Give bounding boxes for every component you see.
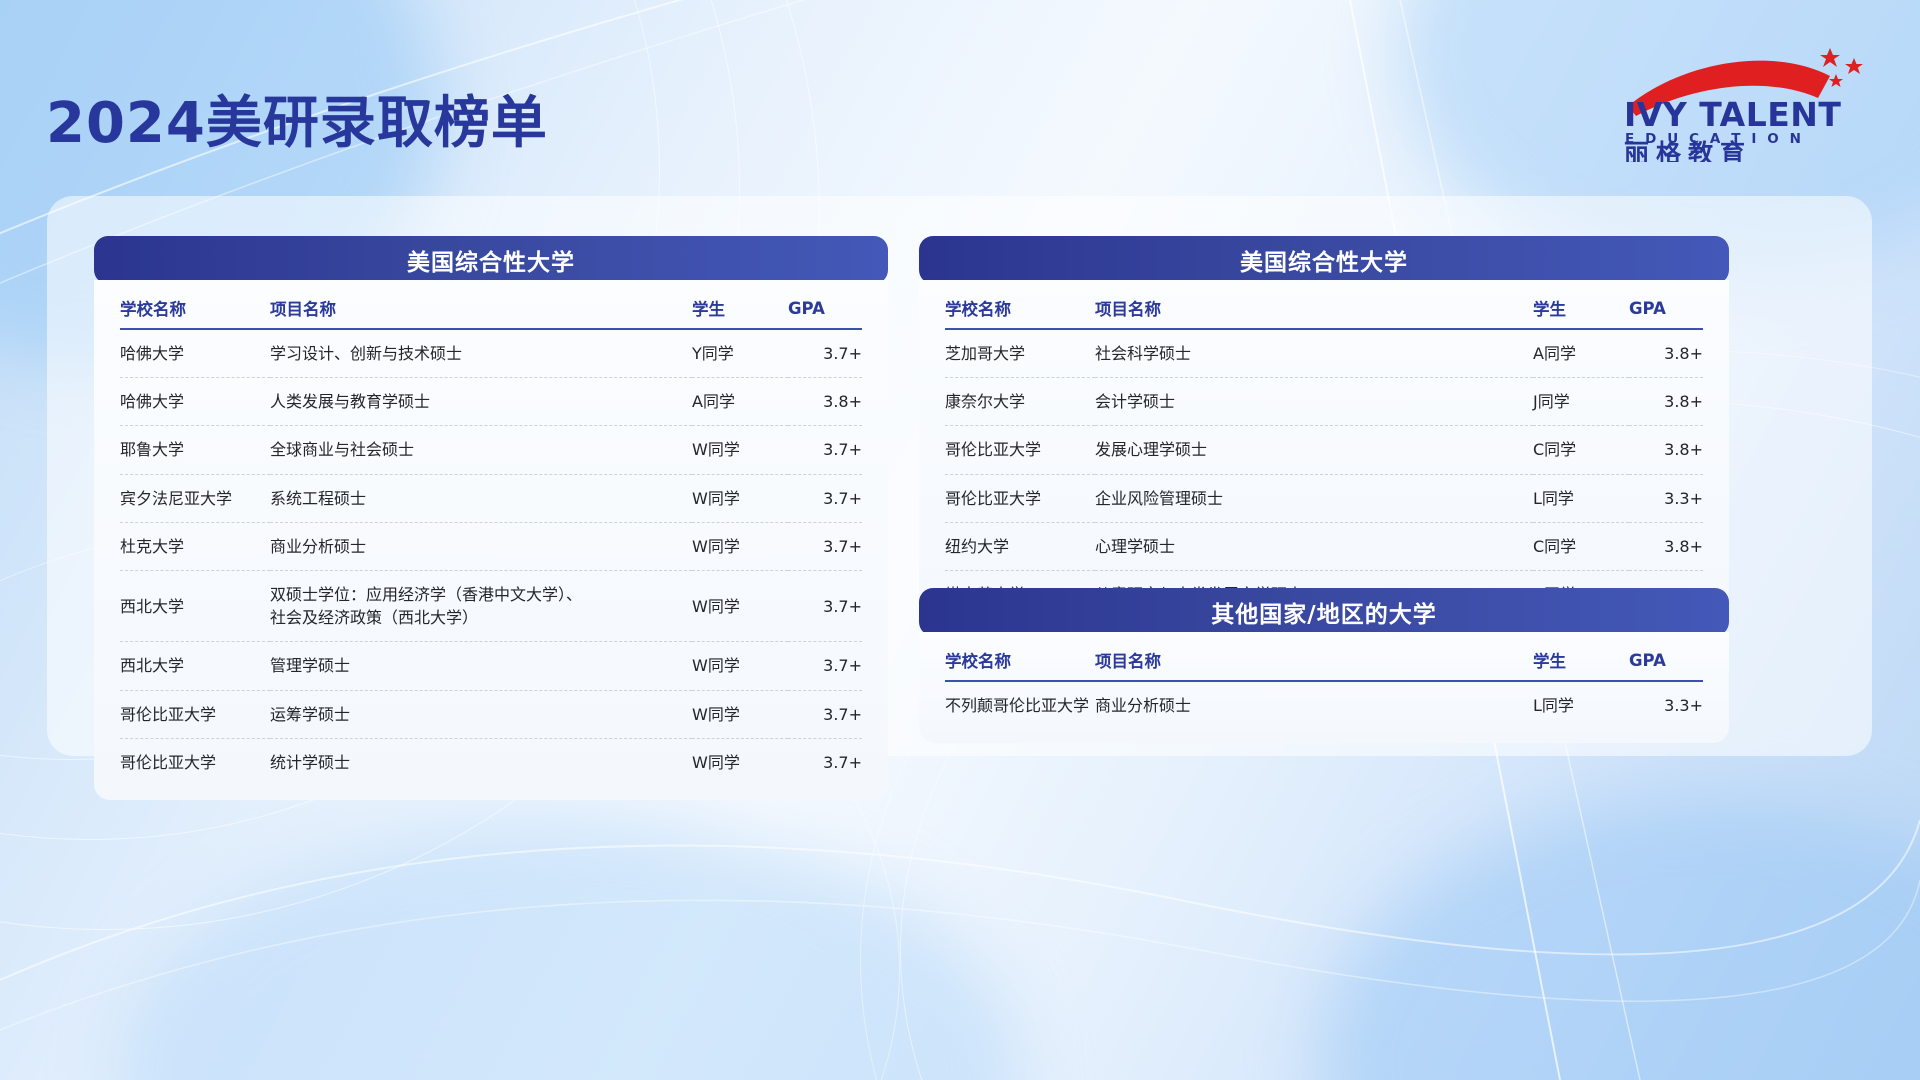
cell-program: 统计学硕士 — [270, 738, 692, 786]
cell-school: 哥伦比亚大学 — [945, 426, 1095, 474]
cell-school: 哥伦比亚大学 — [120, 690, 270, 738]
col-header-school: 学校名称 — [945, 632, 1095, 681]
col-header-gpa: GPA — [1629, 280, 1703, 329]
cell-program: 会计学硕士 — [1095, 378, 1533, 426]
section-card-us-comprehensive-left: 美国综合性大学 学校名称 项目名称 学生 GPA 哈佛大学学习设计、创新与技术硕… — [94, 236, 888, 800]
cell-gpa: 3.7+ — [788, 329, 862, 378]
cell-program: 运筹学硕士 — [270, 690, 692, 738]
section-heading-us-left: 美国综合性大学 — [94, 236, 888, 284]
table-body-other: 不列颠哥伦比亚大学商业分析硕士L同学3.3+ — [945, 681, 1703, 729]
cell-gpa: 3.7+ — [788, 522, 862, 570]
table-row: 纽约大学心理学硕士C同学3.8+ — [945, 522, 1703, 570]
table-row: 哥伦比亚大学发展心理学硕士C同学3.8+ — [945, 426, 1703, 474]
content-panel: 美国综合性大学 学校名称 项目名称 学生 GPA 哈佛大学学习设计、创新与技术硕… — [47, 196, 1872, 756]
cell-school: 西北大学 — [120, 570, 270, 641]
table-us-right: 学校名称 项目名称 学生 GPA 芝加哥大学社会科学硕士A同学3.8+康奈尔大学… — [945, 280, 1703, 618]
table-header-row: 学校名称 项目名称 学生 GPA — [120, 280, 862, 329]
cell-school: 不列颠哥伦比亚大学 — [945, 681, 1095, 729]
table-row: 哥伦比亚大学运筹学硕士W同学3.7+ — [120, 690, 862, 738]
cell-school: 康奈尔大学 — [945, 378, 1095, 426]
cell-school: 哈佛大学 — [120, 378, 270, 426]
cell-gpa: 3.3+ — [1629, 474, 1703, 522]
section-heading-us-right: 美国综合性大学 — [919, 236, 1729, 284]
cell-student: L同学 — [1533, 474, 1629, 522]
cell-school: 哥伦比亚大学 — [120, 738, 270, 786]
col-header-school: 学校名称 — [120, 280, 270, 329]
cell-gpa: 3.7+ — [788, 426, 862, 474]
logo-wordmark-chinese: 丽格教育 — [1624, 139, 1752, 162]
cell-student: C同学 — [1533, 426, 1629, 474]
cell-program: 学习设计、创新与技术硕士 — [270, 329, 692, 378]
cell-school: 芝加哥大学 — [945, 329, 1095, 378]
cell-program: 系统工程硕士 — [270, 474, 692, 522]
col-header-program: 项目名称 — [1095, 280, 1533, 329]
section-body-other: 学校名称 项目名称 学生 GPA 不列颠哥伦比亚大学商业分析硕士L同学3.3+ — [919, 632, 1729, 743]
table-row: 耶鲁大学全球商业与社会硕士W同学3.7+ — [120, 426, 862, 474]
table-row: 西北大学双硕士学位：应用经济学（香港中文大学）、 社会及经济政策（西北大学）W同… — [120, 570, 862, 641]
col-header-student: 学生 — [692, 280, 788, 329]
section-card-other-countries: 其他国家/地区的大学 学校名称 项目名称 学生 GPA 不列颠哥伦比亚大学商业分… — [919, 588, 1729, 743]
cell-program: 心理学硕士 — [1095, 522, 1533, 570]
bg-blob-bottomright — [1320, 800, 1920, 1080]
cell-school: 西北大学 — [120, 642, 270, 690]
cell-program: 双硕士学位：应用经济学（香港中文大学）、 社会及经济政策（西北大学） — [270, 570, 692, 641]
cell-gpa: 3.7+ — [788, 738, 862, 786]
cell-school: 杜克大学 — [120, 522, 270, 570]
table-row: 哈佛大学学习设计、创新与技术硕士Y同学3.7+ — [120, 329, 862, 378]
col-header-gpa: GPA — [788, 280, 862, 329]
cell-student: W同学 — [692, 738, 788, 786]
cell-program: 全球商业与社会硕士 — [270, 426, 692, 474]
table-body-us-left: 哈佛大学学习设计、创新与技术硕士Y同学3.7+哈佛大学人类发展与教育学硕士A同学… — [120, 329, 862, 786]
cell-program: 社会科学硕士 — [1095, 329, 1533, 378]
cell-gpa: 3.8+ — [1629, 378, 1703, 426]
cell-student: W同学 — [692, 474, 788, 522]
cell-student: A同学 — [1533, 329, 1629, 378]
col-header-student: 学生 — [1533, 280, 1629, 329]
cell-gpa: 3.8+ — [788, 378, 862, 426]
cell-student: W同学 — [692, 522, 788, 570]
table-other-countries: 学校名称 项目名称 学生 GPA 不列颠哥伦比亚大学商业分析硕士L同学3.3+ — [945, 632, 1703, 729]
cell-program: 商业分析硕士 — [1095, 681, 1533, 729]
cell-school: 宾夕法尼亚大学 — [120, 474, 270, 522]
cell-gpa: 3.8+ — [1629, 522, 1703, 570]
cell-student: J同学 — [1533, 378, 1629, 426]
brand-logo: IVY TALENT E D U C A T I O N 丽格教育 — [1622, 40, 1884, 162]
bg-blob-bottom — [120, 820, 1020, 1080]
table-row: 不列颠哥伦比亚大学商业分析硕士L同学3.3+ — [945, 681, 1703, 729]
table-header-row: 学校名称 项目名称 学生 GPA — [945, 280, 1703, 329]
col-header-school: 学校名称 — [945, 280, 1095, 329]
table-header-row: 学校名称 项目名称 学生 GPA — [945, 632, 1703, 681]
table-body-us-right: 芝加哥大学社会科学硕士A同学3.8+康奈尔大学会计学硕士J同学3.8+哥伦比亚大… — [945, 329, 1703, 618]
col-header-program: 项目名称 — [1095, 632, 1533, 681]
section-card-us-comprehensive-right: 美国综合性大学 学校名称 项目名称 学生 GPA 芝加哥大学社会科学硕士A同学3… — [919, 236, 1729, 632]
section-heading-other: 其他国家/地区的大学 — [919, 588, 1729, 636]
table-row: 杜克大学商业分析硕士W同学3.7+ — [120, 522, 862, 570]
cell-school: 哈佛大学 — [120, 329, 270, 378]
cell-program: 管理学硕士 — [270, 642, 692, 690]
table-row: 宾夕法尼亚大学系统工程硕士W同学3.7+ — [120, 474, 862, 522]
cell-student: C同学 — [1533, 522, 1629, 570]
table-row: 哥伦比亚大学企业风险管理硕士L同学3.3+ — [945, 474, 1703, 522]
cell-program: 商业分析硕士 — [270, 522, 692, 570]
cell-student: A同学 — [692, 378, 788, 426]
col-header-student: 学生 — [1533, 632, 1629, 681]
table-us-left: 学校名称 项目名称 学生 GPA 哈佛大学学习设计、创新与技术硕士Y同学3.7+… — [120, 280, 862, 786]
cell-gpa: 3.7+ — [788, 570, 862, 641]
cell-school: 哥伦比亚大学 — [945, 474, 1095, 522]
cell-program: 发展心理学硕士 — [1095, 426, 1533, 474]
cell-school: 纽约大学 — [945, 522, 1095, 570]
col-header-gpa: GPA — [1629, 632, 1703, 681]
cell-gpa: 3.7+ — [788, 642, 862, 690]
cell-student: Y同学 — [692, 329, 788, 378]
table-row: 西北大学管理学硕士W同学3.7+ — [120, 642, 862, 690]
cell-gpa: 3.3+ — [1629, 681, 1703, 729]
table-row: 哈佛大学人类发展与教育学硕士A同学3.8+ — [120, 378, 862, 426]
cell-gpa: 3.8+ — [1629, 426, 1703, 474]
cell-program: 人类发展与教育学硕士 — [270, 378, 692, 426]
table-row: 哥伦比亚大学统计学硕士W同学3.7+ — [120, 738, 862, 786]
cell-school: 耶鲁大学 — [120, 426, 270, 474]
cell-gpa: 3.8+ — [1629, 329, 1703, 378]
section-body-us-left: 学校名称 项目名称 学生 GPA 哈佛大学学习设计、创新与技术硕士Y同学3.7+… — [94, 280, 888, 800]
cell-gpa: 3.7+ — [788, 474, 862, 522]
page-title: 2024美研录取榜单 — [46, 78, 548, 159]
cell-gpa: 3.7+ — [788, 690, 862, 738]
section-body-us-right: 学校名称 项目名称 学生 GPA 芝加哥大学社会科学硕士A同学3.8+康奈尔大学… — [919, 280, 1729, 632]
col-header-program: 项目名称 — [270, 280, 692, 329]
table-row: 芝加哥大学社会科学硕士A同学3.8+ — [945, 329, 1703, 378]
cell-student: W同学 — [692, 642, 788, 690]
table-row: 康奈尔大学会计学硕士J同学3.8+ — [945, 378, 1703, 426]
cell-student: W同学 — [692, 690, 788, 738]
cell-student: W同学 — [692, 570, 788, 641]
cell-student: L同学 — [1533, 681, 1629, 729]
cell-student: W同学 — [692, 426, 788, 474]
cell-program: 企业风险管理硕士 — [1095, 474, 1533, 522]
logo-wordmark-primary: IVY TALENT — [1624, 95, 1841, 134]
